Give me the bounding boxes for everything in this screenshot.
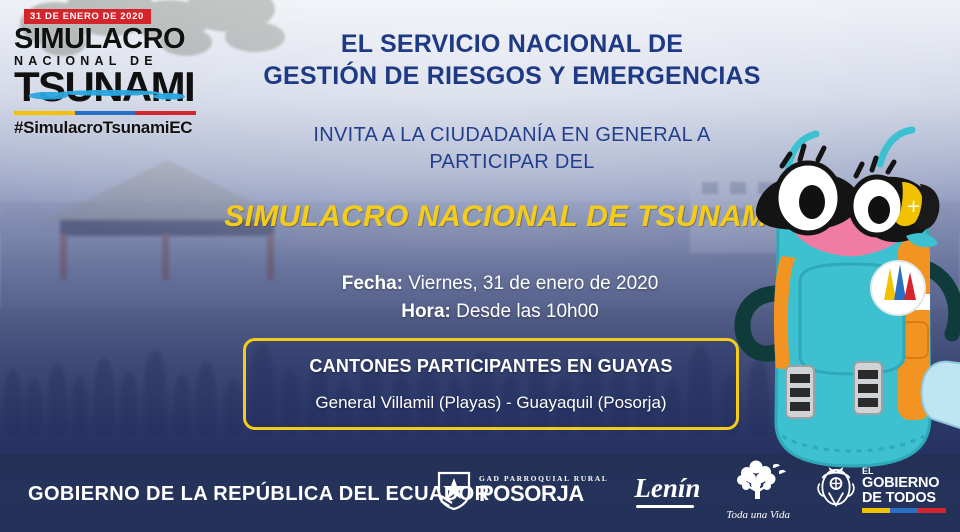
event-schedule: Fecha: Viernes, 31 de enero de 2020 Hora… bbox=[240, 270, 760, 325]
headline-block: EL SERVICIO NACIONAL DE GESTIÓN DE RIESG… bbox=[232, 28, 792, 92]
invitation-line-1: INVITA A LA CIUDADANÍA EN GENERAL A bbox=[313, 124, 710, 146]
campaign-logo: 31 DE ENERO DE 2020 SIMULACRO NACIONAL D… bbox=[14, 6, 200, 138]
toda-una-vida-text: Toda una Vida bbox=[726, 509, 790, 521]
invitation-block: INVITA A LA CIUDADANÍA EN GENERAL A PART… bbox=[232, 122, 792, 176]
lenin-signature-icon: Lenín bbox=[634, 473, 700, 508]
logo-date-badge: 31 DE ENERO DE 2020 bbox=[24, 9, 151, 24]
date-value: Viernes, 31 de enero de 2020 bbox=[408, 273, 658, 294]
time-label: Hora: bbox=[401, 301, 451, 322]
cantons-title: CANTONES PARTICIPANTES EN GUAYAS bbox=[309, 356, 672, 377]
partner-logos: GAD PARROQUIAL RURAL POSORJA Lenín bbox=[436, 462, 946, 518]
poster-canvas: 31 DE ENERO DE 2020 SIMULACRO NACIONAL D… bbox=[0, 0, 960, 532]
logo-lenin: Lenín bbox=[634, 473, 700, 508]
logo-simulacro-text: SIMULACRO bbox=[14, 26, 200, 54]
logo-gobierno-de-todos: EL GOBIERNO DE TODOS bbox=[816, 465, 946, 516]
invitation-line-2: PARTICIPAR DEL bbox=[429, 151, 594, 173]
gobierno-color-bars bbox=[862, 508, 946, 513]
headline-line-1: EL SERVICIO NACIONAL DE bbox=[341, 30, 683, 58]
cantons-list: General Villamil (Playas) - Guayaquil (P… bbox=[315, 393, 666, 413]
logo-toda-una-vida: Toda una Vida bbox=[726, 459, 790, 521]
svg-text:+: + bbox=[906, 196, 921, 217]
event-date-row: Fecha: Viernes, 31 de enero de 2020 bbox=[240, 270, 760, 298]
date-label: Fecha: bbox=[342, 273, 403, 294]
government-text: GOBIERNO DE LA REPÚBLICA DEL ECUADOR bbox=[28, 483, 489, 506]
gobierno-todos-text: EL GOBIERNO DE TODOS bbox=[862, 467, 946, 513]
event-title: SIMULACRO NACIONAL DE TSUNAMI bbox=[200, 200, 800, 234]
event-time-row: Hora: Desde las 10h00 bbox=[240, 298, 760, 326]
posorja-text: GAD PARROQUIAL RURAL POSORJA bbox=[479, 475, 608, 506]
ecuador-tricolor-bar bbox=[14, 111, 196, 115]
gobierno-line-3: DE TODOS bbox=[862, 491, 946, 506]
logo-tsunami-wrap: TSUNAMI bbox=[14, 66, 200, 108]
headline-line-2: GESTIÓN DE RIESGOS Y EMERGENCIAS bbox=[263, 62, 760, 90]
participating-cantons-box: CANTONES PARTICIPANTES EN GUAYAS General… bbox=[243, 338, 739, 430]
logo-posorja: GAD PARROQUIAL RURAL POSORJA bbox=[436, 469, 608, 511]
posorja-name: POSORJA bbox=[479, 483, 608, 505]
emergency-backpack-mascot: + bbox=[730, 118, 960, 490]
logo-hashtag: #SimulacroTsunamiEC bbox=[14, 118, 200, 138]
time-value: Desde las 10h00 bbox=[456, 301, 599, 322]
star-shield-icon bbox=[436, 469, 472, 511]
gobierno-line-2: GOBIERNO bbox=[862, 476, 946, 491]
wave-icon bbox=[16, 88, 196, 102]
ecuador-coat-of-arms-icon bbox=[816, 465, 856, 516]
tree-icon bbox=[729, 459, 787, 508]
